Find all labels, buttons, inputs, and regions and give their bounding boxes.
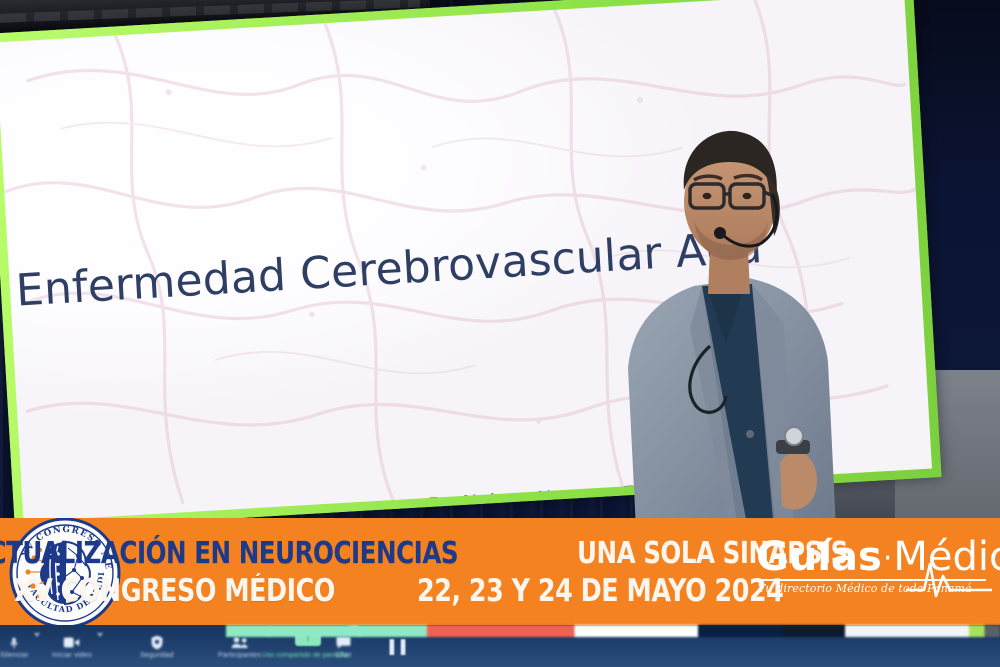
sponsor-logo: Guí●as·Médica Tu directorio Médico de to… (756, 536, 992, 610)
blazer-button (746, 430, 754, 438)
chevron-up-icon[interactable] (34, 633, 40, 637)
banner-line2-secondary: 22, 23 Y 24 DE MAYO 2024 (417, 573, 783, 609)
ecg-heartbeat-icon (906, 556, 992, 600)
chat-bubble-icon: 14 (335, 635, 352, 650)
banner-line2-primary: XV CONGRESO MÉDICO (14, 573, 335, 609)
sponsor-separator: · (882, 541, 894, 576)
zoom-item-label: Participantes (218, 652, 261, 659)
sponsor-name-part1: Gu (756, 534, 817, 580)
video-camera-icon (63, 635, 80, 650)
share-screen-label: Uso compartido de pantalla (262, 652, 347, 659)
pause-icon[interactable]: ▐▐ (385, 639, 407, 654)
shield-icon (150, 635, 164, 650)
zoom-item-label: Seguridad (140, 652, 174, 659)
zoom-item-label: Iniciar video (52, 652, 92, 659)
event-banner: XV CONGRESO MÉDICO FACULTAD DE MEDICINA … (0, 518, 1000, 625)
sponsor-name-part2: as (831, 534, 882, 580)
banner-headline: ACTUALIZACIÓN EN NEUROCIENCIAS UNA SOLA … (128, 524, 750, 620)
microphone-icon (7, 635, 21, 650)
chevron-up-icon[interactable] (97, 633, 103, 637)
congress-seal-logo: XV CONGRESO MÉDICO FACULTAD DE MEDICINA … (6, 518, 124, 625)
participants-icon: 2 (231, 635, 249, 650)
presenter-photo (598, 118, 858, 530)
zoom-item-label: Silenciar (0, 652, 29, 659)
screenshot-root: Enfermedad Cerebrovascular Agu Dr. Nelso… (0, 0, 1000, 667)
shared-screen-preview-band (226, 625, 1000, 637)
zoom-security-button[interactable]: Seguridad (140, 627, 174, 667)
zoom-mute-button[interactable]: Silenciar (0, 627, 29, 667)
banner-line1-primary: ACTUALIZACIÓN EN NEUROCIENCIAS (0, 536, 458, 571)
zoom-start-video-button[interactable]: Iniciar video (52, 627, 92, 667)
